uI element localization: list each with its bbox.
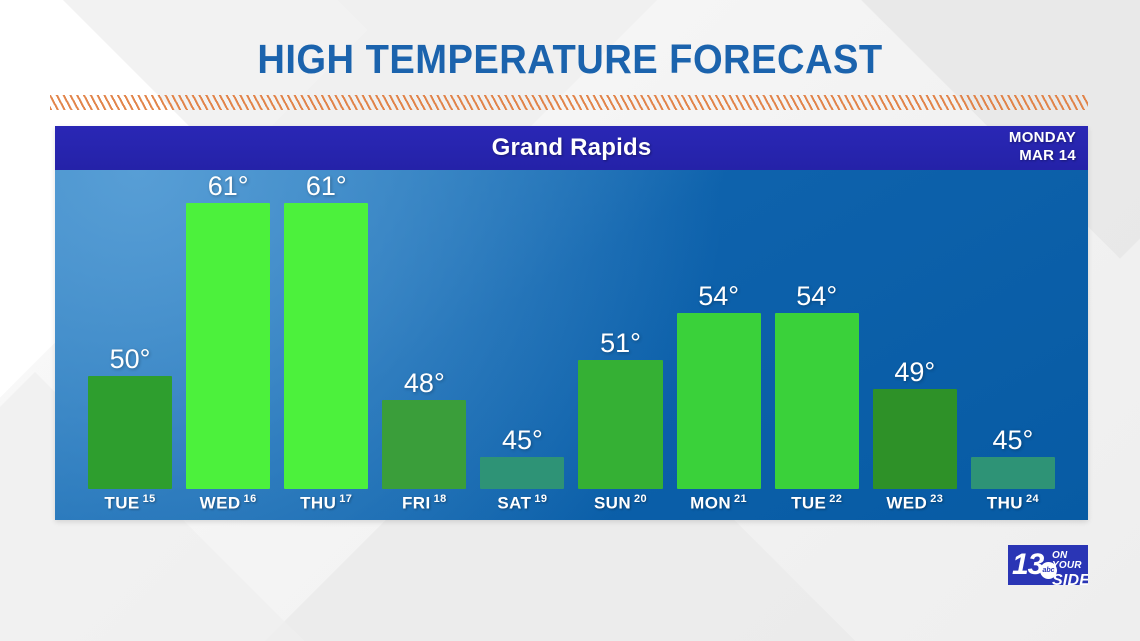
bar-group: 50°TUE1561°WED1661°THU1748°FRI1845°SAT19… bbox=[55, 170, 1088, 520]
station-logo: 13 abc ON YOUR SIDE bbox=[1008, 545, 1088, 585]
day-name: WED bbox=[200, 494, 241, 513]
day-label: SUN20 bbox=[578, 489, 662, 520]
logo-tagline-top: ON YOUR bbox=[1052, 551, 1088, 571]
day-number: 24 bbox=[1026, 493, 1039, 505]
logo-tagline-bottom: SIDE bbox=[1052, 573, 1088, 585]
day-name: WED bbox=[886, 494, 927, 513]
forecast-day-column: 50°TUE15 bbox=[88, 170, 172, 520]
day-number: 20 bbox=[634, 493, 647, 505]
bar-temperature-label: 49° bbox=[894, 357, 935, 387]
bar-temperature-label: 54° bbox=[698, 281, 739, 311]
issued-weekday: MONDAY bbox=[1009, 129, 1076, 147]
day-name: THU bbox=[300, 494, 336, 513]
forecast-panel: Grand Rapids MONDAY MAR 14 50°TUE1561°WE… bbox=[55, 126, 1088, 520]
day-label: THU24 bbox=[971, 489, 1055, 520]
bar-temperature-label: 48° bbox=[404, 368, 445, 398]
day-number: 21 bbox=[734, 493, 747, 505]
forecast-day-column: 61°THU17 bbox=[284, 170, 368, 520]
bar-temperature-label: 54° bbox=[796, 281, 837, 311]
logo-tagline: ON YOUR SIDE bbox=[1052, 551, 1088, 585]
day-number: 22 bbox=[829, 493, 842, 505]
day-name: THU bbox=[987, 494, 1023, 513]
bar-temperature-label: 61° bbox=[306, 171, 347, 201]
day-number: 15 bbox=[143, 493, 156, 505]
day-name: SUN bbox=[594, 494, 631, 513]
issued-date: MONDAY MAR 14 bbox=[1009, 129, 1076, 165]
forecast-day-column: 45°THU24 bbox=[971, 170, 1055, 520]
temperature-bar bbox=[480, 457, 564, 489]
issued-monthday: MAR 14 bbox=[1009, 147, 1076, 165]
page-title: HIGH TEMPERATURE FORECAST bbox=[40, 36, 1100, 83]
day-name: MON bbox=[690, 494, 731, 513]
day-name: SAT bbox=[497, 494, 531, 513]
panel-header: Grand Rapids MONDAY MAR 14 bbox=[55, 126, 1088, 170]
day-label: FRI18 bbox=[382, 489, 466, 520]
day-label: TUE15 bbox=[88, 489, 172, 520]
bar-temperature-label: 51° bbox=[600, 328, 641, 358]
temperature-bar bbox=[873, 389, 957, 489]
day-number: 23 bbox=[930, 493, 943, 505]
temperature-bar bbox=[578, 360, 662, 489]
forecast-day-column: 51°SUN20 bbox=[578, 170, 662, 520]
bar-temperature-label: 50° bbox=[110, 344, 151, 374]
hatched-divider bbox=[50, 95, 1088, 110]
bar-temperature-label: 45° bbox=[502, 425, 543, 455]
day-label: SAT19 bbox=[480, 489, 564, 520]
forecast-day-column: 48°FRI18 bbox=[382, 170, 466, 520]
day-name: TUE bbox=[791, 494, 826, 513]
day-number: 16 bbox=[244, 493, 257, 505]
forecast-day-column: 45°SAT19 bbox=[480, 170, 564, 520]
bar-temperature-label: 45° bbox=[992, 425, 1033, 455]
forecast-day-column: 49°WED23 bbox=[873, 170, 957, 520]
forecast-day-column: 61°WED16 bbox=[186, 170, 270, 520]
temperature-bar bbox=[382, 400, 466, 489]
temperature-bar bbox=[284, 203, 368, 489]
day-label: WED23 bbox=[873, 489, 957, 520]
day-name: TUE bbox=[104, 494, 139, 513]
temperature-bar bbox=[971, 457, 1055, 489]
forecast-day-column: 54°TUE22 bbox=[775, 170, 859, 520]
day-label: MON21 bbox=[677, 489, 761, 520]
day-number: 19 bbox=[534, 493, 547, 505]
temperature-bar bbox=[677, 313, 761, 489]
day-number: 18 bbox=[434, 493, 447, 505]
temperature-bar bbox=[88, 376, 172, 489]
day-label: WED16 bbox=[186, 489, 270, 520]
city-name: Grand Rapids bbox=[492, 134, 652, 162]
day-name: FRI bbox=[402, 494, 431, 513]
day-label: TUE22 bbox=[775, 489, 859, 520]
forecast-chart: 50°TUE1561°WED1661°THU1748°FRI1845°SAT19… bbox=[55, 170, 1088, 520]
forecast-day-column: 54°MON21 bbox=[677, 170, 761, 520]
day-number: 17 bbox=[339, 493, 352, 505]
day-label: THU17 bbox=[284, 489, 368, 520]
logo-channel-number: 13 bbox=[1012, 550, 1043, 580]
bar-temperature-label: 61° bbox=[208, 171, 249, 201]
temperature-bar bbox=[186, 203, 270, 489]
temperature-bar bbox=[775, 313, 859, 489]
